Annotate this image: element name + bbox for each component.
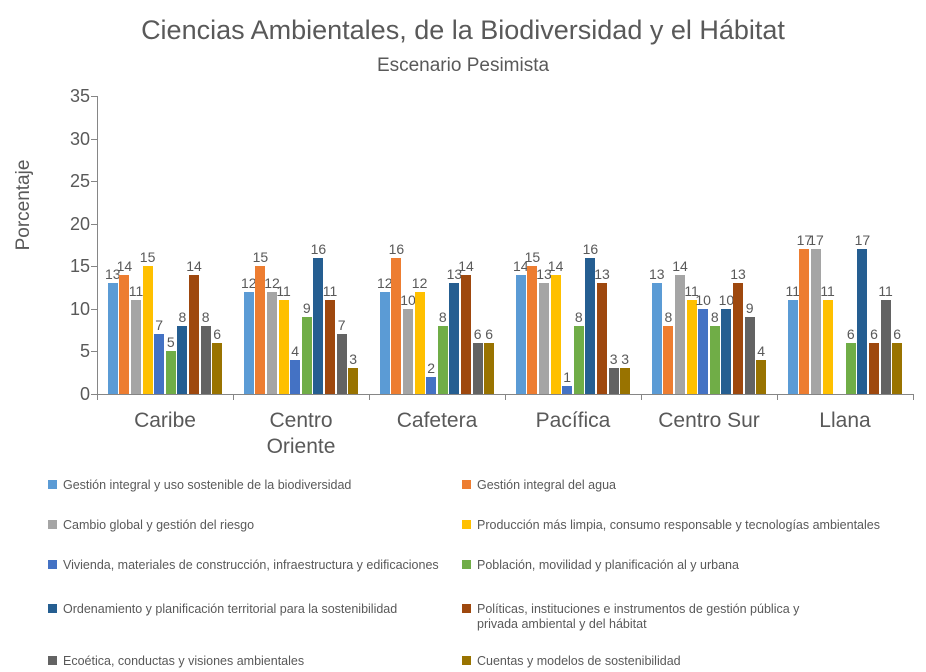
bar[interactable] bbox=[687, 300, 697, 394]
legend-item[interactable]: Cuentas y modelos de sostenibilidad bbox=[462, 654, 681, 672]
legend-color-swatch bbox=[48, 480, 57, 489]
legend-item[interactable]: Ecoética, conductas y visiones ambiental… bbox=[48, 654, 304, 672]
legend-item[interactable]: Políticas, instituciones e instrumentos … bbox=[462, 602, 817, 632]
legend-item-label: Vivienda, materiales de construcción, in… bbox=[63, 558, 439, 573]
bar[interactable] bbox=[166, 351, 176, 394]
bar[interactable] bbox=[313, 258, 323, 394]
bar-value-label: 8 bbox=[191, 310, 221, 324]
bar-value-label: 15 bbox=[133, 250, 163, 264]
bar[interactable] bbox=[391, 258, 401, 394]
legend-color-swatch bbox=[462, 520, 471, 529]
bar-group: 1216101228131466 bbox=[369, 96, 505, 394]
bar[interactable] bbox=[484, 343, 494, 394]
bar[interactable] bbox=[348, 368, 358, 394]
legend-color-swatch bbox=[462, 560, 471, 569]
bar[interactable] bbox=[574, 326, 584, 394]
bar-value-label: 11 bbox=[813, 284, 843, 298]
bar-group: 111717116176116 bbox=[777, 96, 913, 394]
y-axis-tick-mark bbox=[91, 139, 97, 140]
x-axis-tick-mark bbox=[641, 394, 642, 400]
bar[interactable] bbox=[857, 249, 867, 394]
legend-item-label: Producción más limpia, consumo responsab… bbox=[477, 518, 880, 533]
legend-color-swatch bbox=[462, 604, 471, 613]
bar-value-label: 14 bbox=[451, 259, 481, 273]
bar-value-label: 11 bbox=[315, 284, 345, 298]
y-axis-tick-mark bbox=[91, 224, 97, 225]
bar-value-label: 14 bbox=[179, 259, 209, 273]
bar-value-label: 6 bbox=[882, 327, 912, 341]
bar[interactable] bbox=[609, 368, 619, 394]
legend-item[interactable]: Producción más limpia, consumo responsab… bbox=[462, 518, 880, 536]
bar[interactable] bbox=[811, 249, 821, 394]
y-axis-tick-mark bbox=[91, 351, 97, 352]
x-axis-category-label: Caribe bbox=[97, 408, 233, 434]
y-axis-title: Porcentaje bbox=[13, 85, 35, 325]
bar[interactable] bbox=[620, 368, 630, 394]
x-axis-tick-mark bbox=[233, 394, 234, 400]
y-axis-tick-mark bbox=[91, 309, 97, 310]
bar-value-label: 14 bbox=[665, 259, 695, 273]
bar-value-label: 13 bbox=[723, 267, 753, 281]
legend-color-swatch bbox=[462, 480, 471, 489]
bar-value-label: 4 bbox=[746, 344, 776, 358]
legend-color-swatch bbox=[48, 520, 57, 529]
x-axis-category-label: Centro Oriente bbox=[233, 408, 369, 460]
x-axis-tick-mark bbox=[97, 394, 98, 400]
bar[interactable] bbox=[325, 300, 335, 394]
bar[interactable] bbox=[539, 283, 549, 394]
bar[interactable] bbox=[733, 283, 743, 394]
bar-value-label: 7 bbox=[327, 318, 357, 332]
bar-value-label: 6 bbox=[474, 327, 504, 341]
bar[interactable] bbox=[892, 343, 902, 394]
legend-color-swatch bbox=[48, 604, 57, 613]
chart-legend: Gestión integral y uso sostenible de la … bbox=[36, 474, 906, 672]
bar-value-label: 15 bbox=[245, 250, 275, 264]
bar-group: 1215121149161173 bbox=[233, 96, 369, 394]
legend-item[interactable]: Gestión integral del agua bbox=[462, 478, 616, 496]
x-axis-tick-mark bbox=[777, 394, 778, 400]
y-axis-tick-label: 25 bbox=[42, 174, 90, 188]
bar[interactable] bbox=[415, 292, 425, 394]
bar[interactable] bbox=[881, 300, 891, 394]
bar[interactable] bbox=[177, 326, 187, 394]
legend-color-swatch bbox=[48, 560, 57, 569]
bar[interactable] bbox=[189, 275, 199, 394]
bar[interactable] bbox=[380, 292, 390, 394]
bar[interactable] bbox=[652, 283, 662, 394]
bar-value-label: 13 bbox=[587, 267, 617, 281]
bar[interactable] bbox=[426, 377, 436, 394]
bar-value-label: 16 bbox=[303, 242, 333, 256]
bar[interactable] bbox=[473, 343, 483, 394]
y-axis-tick-label: 20 bbox=[42, 217, 90, 231]
legend-item-label: Población, movilidad y planificación al … bbox=[477, 558, 739, 573]
bar-value-label: 17 bbox=[847, 233, 877, 247]
bar-group: 131411157581486 bbox=[97, 96, 233, 394]
bar[interactable] bbox=[449, 283, 459, 394]
bar-value-label: 11 bbox=[269, 284, 299, 298]
y-axis-tick-label: 30 bbox=[42, 132, 90, 146]
bar[interactable] bbox=[516, 275, 526, 394]
bar-value-label: 3 bbox=[338, 352, 368, 366]
legend-item[interactable]: Gestión integral y uso sostenible de la … bbox=[48, 478, 351, 496]
bar[interactable] bbox=[302, 317, 312, 394]
plot-area: Porcentaje 05101520253035 13141115758148… bbox=[0, 0, 926, 470]
bar-value-label: 11 bbox=[871, 284, 901, 298]
y-axis-tick-mark bbox=[91, 96, 97, 97]
legend-color-swatch bbox=[462, 656, 471, 665]
y-axis-tick-label: 5 bbox=[42, 344, 90, 358]
bar[interactable] bbox=[846, 343, 856, 394]
x-axis-category-label: Pacífica bbox=[505, 408, 641, 434]
bar[interactable] bbox=[438, 326, 448, 394]
legend-item-label: Políticas, instituciones e instrumentos … bbox=[477, 602, 817, 632]
bar[interactable] bbox=[212, 343, 222, 394]
bar[interactable] bbox=[756, 360, 766, 394]
bar[interactable] bbox=[403, 309, 413, 394]
bar-groups: 1314111575814861215121149161173121610122… bbox=[97, 96, 913, 394]
bar[interactable] bbox=[869, 343, 879, 394]
y-axis-tick-label: 15 bbox=[42, 259, 90, 273]
bar[interactable] bbox=[290, 360, 300, 394]
bar[interactable] bbox=[562, 386, 572, 395]
legend-item-label: Ecoética, conductas y visiones ambiental… bbox=[63, 654, 304, 669]
x-axis-tick-mark bbox=[369, 394, 370, 400]
bar[interactable] bbox=[267, 292, 277, 394]
bar[interactable] bbox=[131, 300, 141, 394]
bar-group: 1381411108101394 bbox=[641, 96, 777, 394]
bar[interactable] bbox=[244, 292, 254, 394]
legend-item-label: Ordenamiento y planificación territorial… bbox=[63, 602, 397, 617]
bar-value-label: 3 bbox=[610, 352, 640, 366]
legend-item-label: Gestión integral y uso sostenible de la … bbox=[63, 478, 351, 493]
y-axis-ticks: 05101520253035 bbox=[40, 88, 90, 400]
legend-item[interactable]: Ordenamiento y planificación territorial… bbox=[48, 602, 397, 620]
bar-value-label: 16 bbox=[381, 242, 411, 256]
bar-value-label: 9 bbox=[735, 301, 765, 315]
legend-item[interactable]: Población, movilidad y planificación al … bbox=[462, 558, 739, 576]
x-axis-tick-mark bbox=[505, 394, 506, 400]
bar-value-label: 12 bbox=[405, 276, 435, 290]
bar-value-label: 16 bbox=[575, 242, 605, 256]
legend-item-label: Cambio global y gestión del riesgo bbox=[63, 518, 254, 533]
y-axis-tick-label: 10 bbox=[42, 302, 90, 316]
bar[interactable] bbox=[823, 300, 833, 394]
x-axis-category-label: Cafetera bbox=[369, 408, 505, 434]
bar-value-label: 14 bbox=[541, 259, 571, 273]
x-axis-category-label: Centro Sur bbox=[641, 408, 777, 434]
y-axis-tick-label: 35 bbox=[42, 89, 90, 103]
y-axis-tick-label: 0 bbox=[42, 387, 90, 401]
x-axis-category-label: Llana bbox=[777, 408, 913, 434]
legend-item-label: Cuentas y modelos de sostenibilidad bbox=[477, 654, 681, 669]
bar[interactable] bbox=[108, 283, 118, 394]
legend-item[interactable]: Cambio global y gestión del riesgo bbox=[48, 518, 254, 536]
bar-value-label: 6 bbox=[202, 327, 232, 341]
legend-item-label: Gestión integral del agua bbox=[477, 478, 616, 493]
x-axis-tick-mark bbox=[913, 394, 914, 400]
chart-container: Ciencias Ambientales, de la Biodiversida… bbox=[0, 0, 926, 672]
bar[interactable] bbox=[788, 300, 798, 394]
bar[interactable] bbox=[721, 309, 731, 394]
bar-group: 1415131418161333 bbox=[505, 96, 641, 394]
bar[interactable] bbox=[597, 283, 607, 394]
bar[interactable] bbox=[527, 266, 537, 394]
legend-color-swatch bbox=[48, 656, 57, 665]
bar-value-label: 17 bbox=[801, 233, 831, 247]
y-axis-tick-mark bbox=[91, 266, 97, 267]
bar[interactable] bbox=[799, 249, 809, 394]
y-axis-tick-mark bbox=[91, 181, 97, 182]
bar[interactable] bbox=[710, 326, 720, 394]
bar[interactable] bbox=[663, 326, 673, 394]
legend-item[interactable]: Vivienda, materiales de construcción, in… bbox=[48, 558, 439, 576]
